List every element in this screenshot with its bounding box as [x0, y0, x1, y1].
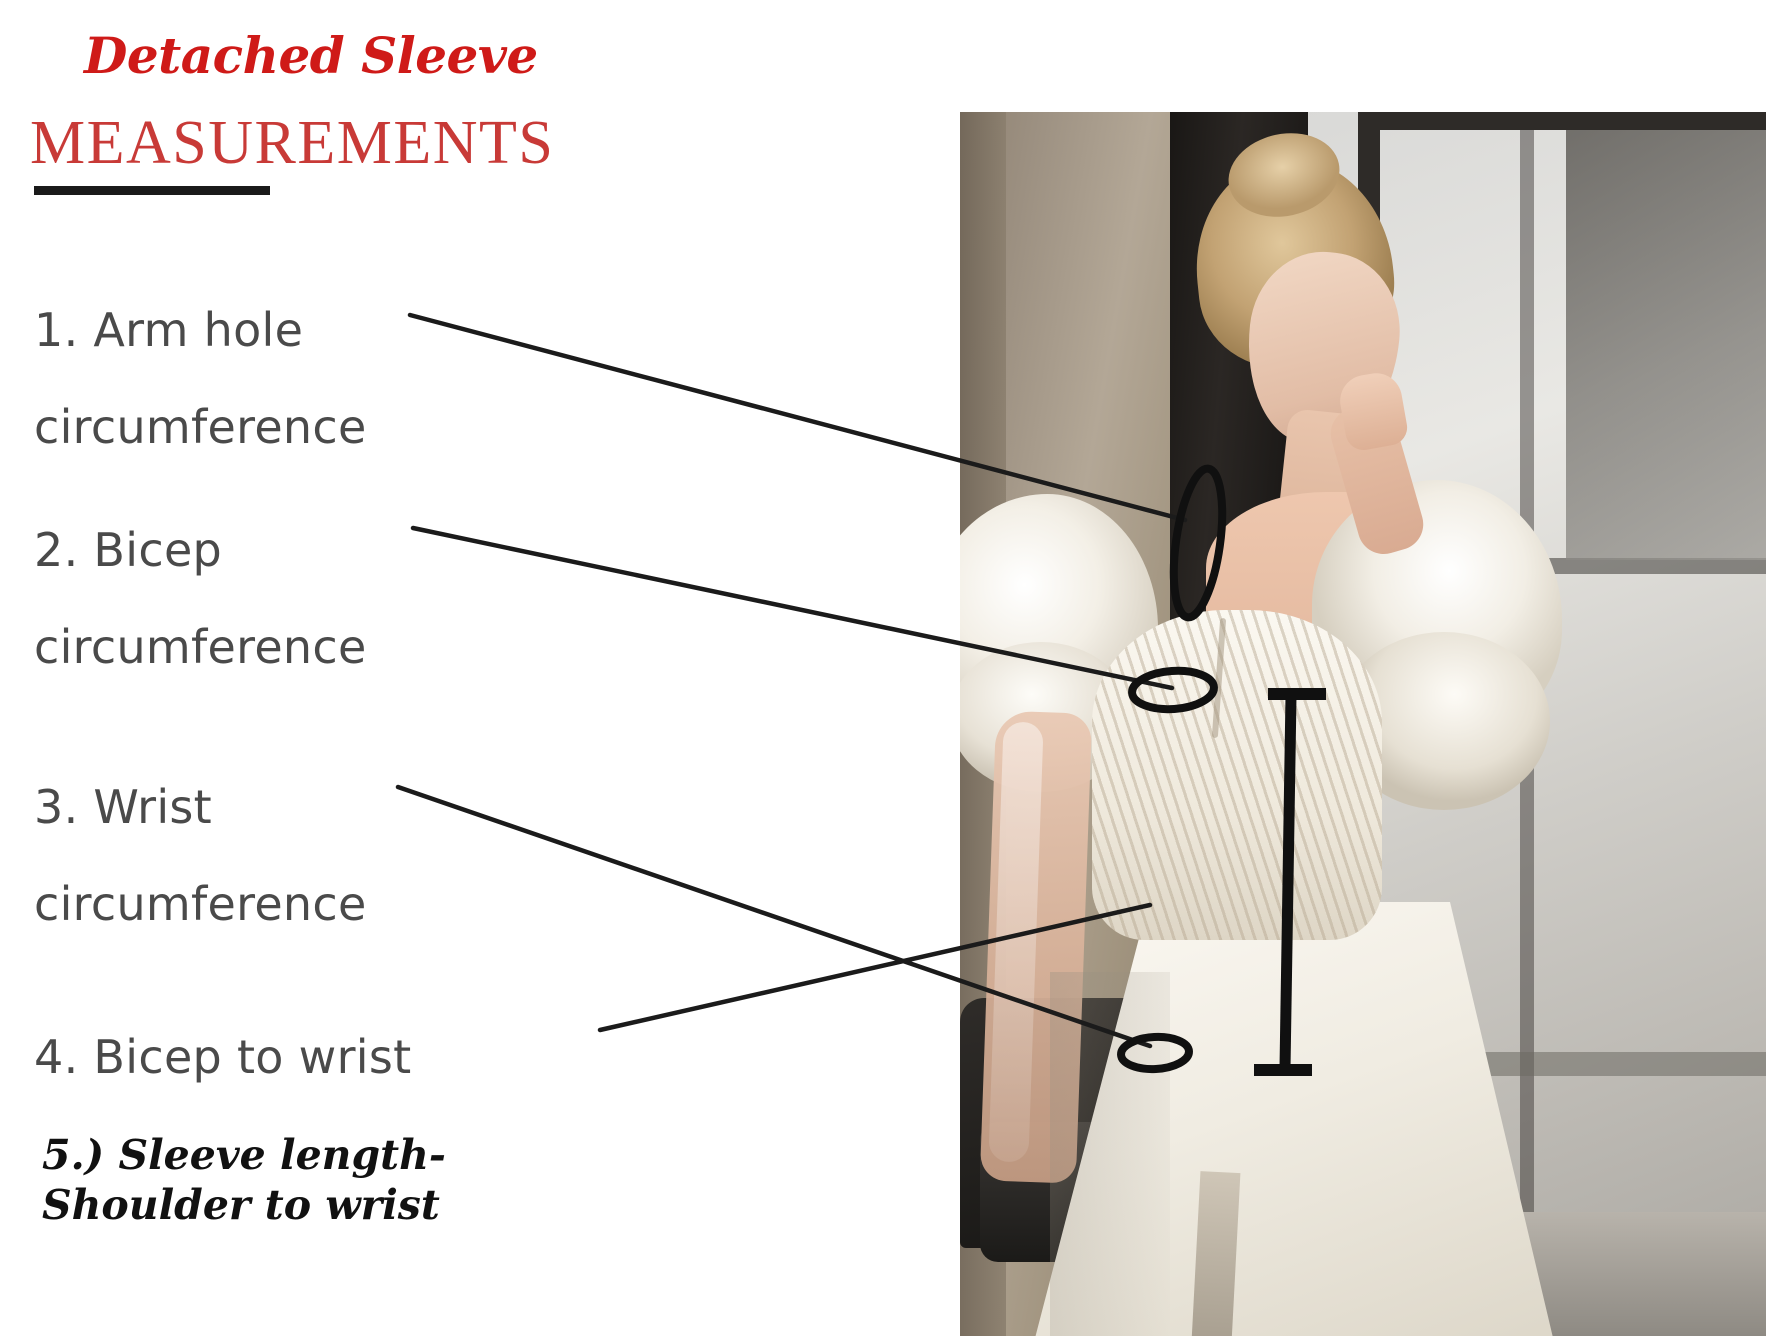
- model-hand: [1336, 369, 1410, 453]
- model-photo: [960, 112, 1766, 1336]
- list-item-line-1: 1. Arm hole: [34, 306, 367, 354]
- dress-bodice: [1092, 610, 1382, 940]
- list-item-line-1: 3. Wrist: [34, 783, 367, 831]
- list-item-line-1: 2. Bicep: [34, 526, 367, 574]
- list-item-line-1: 4. Bicep to wrist: [34, 1033, 411, 1081]
- dress-skirt-shadow: [1050, 972, 1170, 1336]
- measurement-list: 1. Arm hole circumference 2. Bicep circu…: [0, 0, 860, 1336]
- model-figure: [960, 112, 1766, 1336]
- list-item-line-1: 5.) Sleeve length-: [42, 1131, 446, 1179]
- list-item-bicep: 2. Bicep circumference: [34, 478, 367, 719]
- list-item-line-2: circumference: [34, 623, 367, 671]
- list-item-sleeve-length: 5.) Sleeve length- Shoulder to wrist: [42, 1080, 446, 1230]
- text-panel: Detached Sleeve MEASUREMENTS 1. Arm hole…: [0, 0, 960, 1336]
- list-item-wrist: 3. Wrist circumference: [34, 735, 367, 976]
- infographic-root: Detached Sleeve MEASUREMENTS 1. Arm hole…: [0, 0, 1766, 1336]
- list-item-arm-hole: 1. Arm hole circumference: [34, 258, 367, 499]
- dress-skirt-slit: [1192, 1171, 1241, 1336]
- list-item-line-2: circumference: [34, 880, 367, 928]
- list-item-line-2: circumference: [34, 403, 367, 451]
- list-item-line-2: Shoulder to wrist: [42, 1181, 440, 1229]
